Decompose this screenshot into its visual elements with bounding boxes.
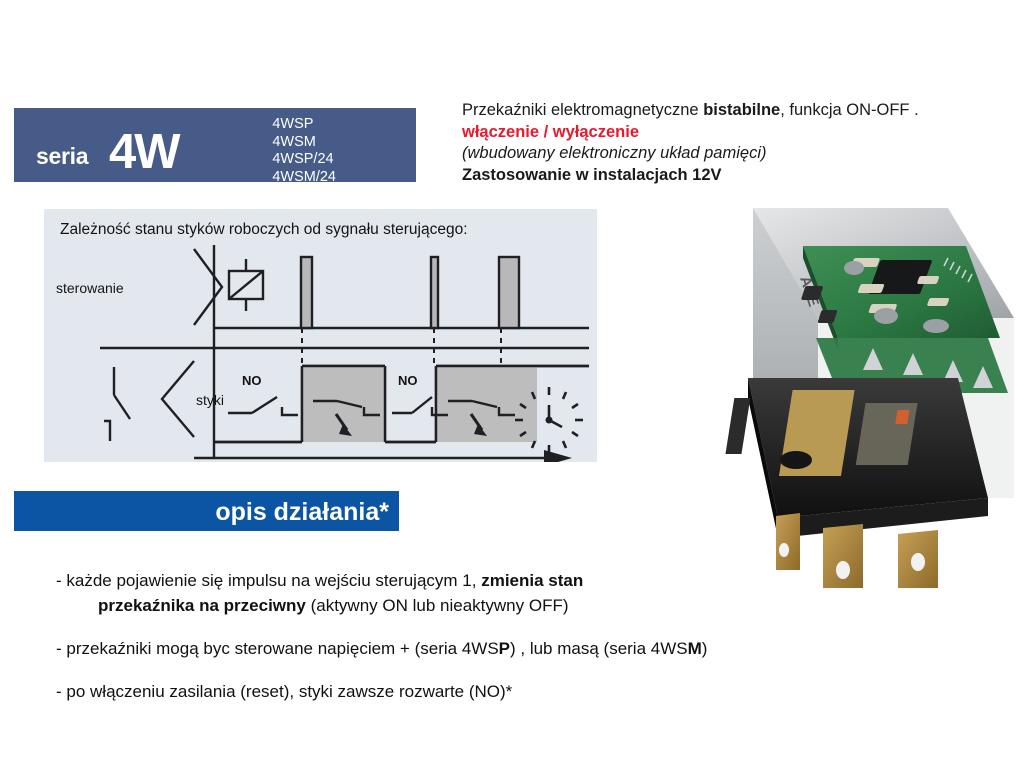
opis-dzialania-label: opis działania* [215,498,389,527]
contacts-symbol [104,361,194,441]
model-item: 4WSP/24 [272,151,336,169]
timing-diagram-graphic: sterowanie styki NO NO [44,209,597,462]
product-description-block: Przekaźniki elektromagnetyczne bistabiln… [462,100,1022,186]
model-variant-list: 4WSP 4WSM 4WSP/24 4WSM/24 [272,116,336,186]
series-header-banner: seria 4W 4WSP 4WSM 4WSP/24 4WSM/24 [14,108,416,182]
relay-base [725,378,988,538]
bullet-2-text-e: ) [702,639,708,658]
bullet-item-2: - przekaźniki mogą byc sterowane napięci… [56,636,956,661]
control-pulse-3 [499,257,519,328]
control-pulse-2 [431,257,438,328]
open-contact-symbol-1 [228,397,298,415]
bullet-2-text-bold-p: P [499,639,510,658]
feature-bullet-list: - każde pojawienie się impulsu na wejści… [56,568,956,722]
control-coil-symbol [194,249,263,325]
contact-closed-blocks [302,366,537,442]
bullet-1-text-bold: zmienia stan [481,571,583,590]
description-text-c: , funkcja ON-OFF . [780,101,918,119]
description-text-a: Przekaźniki elektromagnetyczne [462,101,703,119]
bullet-2-text-a: - przekaźniki mogą byc sterowane napięci… [56,639,499,658]
bullet-1-row-1: - każde pojawienie się impulsu na wejści… [56,568,956,593]
bullet-2-text-c: ) , lub masą (seria 4WS [510,639,688,658]
bullet-1-text-b: (aktywny ON lub nieaktywny OFF) [306,596,569,615]
description-line-4-application: Zastosowanie w instalacjach 12V [462,165,1022,187]
contacts-label: styki [196,392,224,408]
bullet-item-3: - po włączeniu zasilania (reset), styki … [56,679,956,704]
bullet-1-text-a: - każde pojawienie się impulsu na wejści… [56,571,481,590]
bullet-2-row-1: - przekaźniki mogą byc sterowane napięci… [56,636,956,661]
diode-component [895,410,909,424]
bullet-1-row-2: przekaźnika na przeciwny (aktywny ON lub… [56,593,956,618]
product-photo-relay: ASE [648,198,1024,588]
control-pulse-1 [301,257,312,328]
state-label-no-2: NO [398,373,418,388]
model-item: 4WSM [272,134,336,152]
bullet-3-row-1: - po włączeniu zasilania (reset), styki … [56,679,956,704]
bullet-2-text-bold-m: M [688,639,702,658]
timing-diagram-panel: Zależność stanu styków roboczych od sygn… [44,209,597,462]
series-word-label: seria [36,143,88,170]
bullet-1-text-bold-2: przekaźnika na przeciwny [98,596,306,615]
description-line-1: Przekaźniki elektromagnetyczne bistabiln… [462,100,1022,122]
terminal-small [776,513,800,570]
model-item: 4WSM/24 [272,169,336,187]
model-item: 4WSP [272,116,336,134]
description-text-bold: bistabilne [703,101,780,119]
control-label: sterowanie [56,280,124,296]
description-line-2-highlight: włączenie / wyłączenie [462,122,1022,144]
control-pulse-group [301,257,519,328]
description-line-3-note: (wbudowany elektroniczny układ pamięci) [462,143,1022,165]
opis-dzialania-banner: opis działania* [14,491,399,531]
state-label-no-1: NO [242,373,262,388]
series-code-label: 4W [109,124,179,180]
bullet-item-1: - każde pojawienie się impulsu na wejści… [56,568,956,618]
